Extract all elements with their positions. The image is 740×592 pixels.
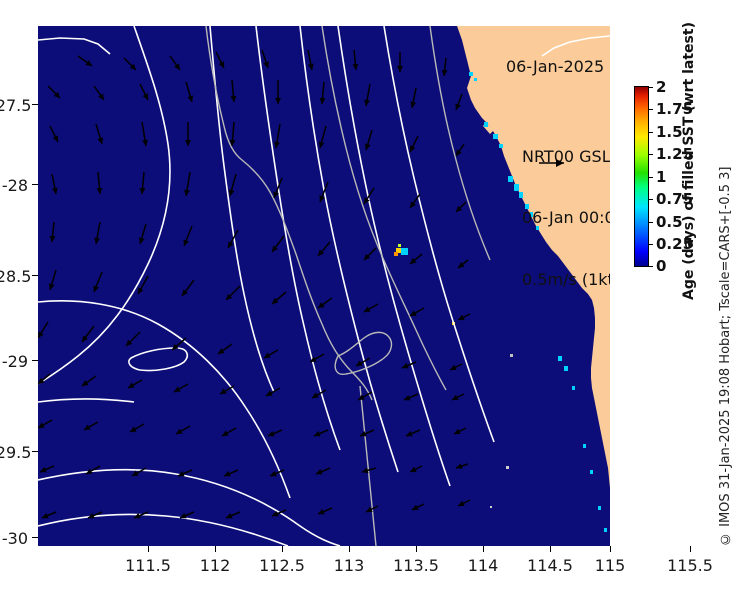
x-tick-label: 115.5	[650, 556, 730, 575]
colorbar-tick-label: 0	[656, 257, 666, 275]
gsl-scale-label: 0.5m/s (1kt 6h)	[522, 270, 610, 290]
y-tick-label: -29	[0, 352, 28, 371]
colorbar-tick-label: 2	[656, 78, 666, 96]
right-arrow-icon	[538, 157, 572, 169]
colorbar-tick	[649, 266, 653, 267]
gsl-time-label: 06-Jan 00:00Z	[522, 208, 610, 228]
y-tick	[32, 275, 38, 276]
colorbar-tick	[649, 222, 653, 223]
colorbar-tick	[649, 244, 653, 245]
x-tick	[148, 546, 149, 552]
x-tick-label: 115	[570, 556, 650, 575]
x-tick	[349, 546, 350, 552]
x-tick	[483, 546, 484, 552]
colorbar-tick	[649, 109, 653, 110]
x-tick	[610, 546, 611, 552]
y-tick	[32, 184, 38, 185]
gsl-info-block: NRT00 GSL 06-Jan 00:00Z 0.5m/s (1kt 6h)	[522, 106, 610, 331]
colorbar-gradient[interactable]	[634, 86, 649, 267]
y-tick-label: -27.5	[0, 96, 28, 115]
x-tick	[550, 546, 551, 552]
colorbar-title: Age (days) of filled SST (wrt latest)	[678, 26, 700, 296]
y-tick	[32, 104, 38, 105]
figure-root: 06-Jan-2025 12Z NRT00 GSL 06-Jan 00:00Z …	[0, 0, 740, 592]
copyright-credit: © IMOS 31-Jan-2025 19:08 Hobart; Tscale=…	[718, 190, 738, 546]
x-tick	[282, 546, 283, 552]
colorbar-tick-label: 1	[656, 168, 666, 186]
x-tick	[215, 546, 216, 552]
y-tick-label: -29.5	[0, 443, 28, 462]
x-tick	[416, 546, 417, 552]
y-tick-label: -28	[0, 176, 28, 195]
y-tick	[32, 537, 38, 538]
colorbar-tick	[649, 177, 653, 178]
x-tick	[690, 546, 691, 552]
colorbar-tick	[649, 199, 653, 200]
y-tick-label: -30	[0, 529, 28, 548]
colorbar-tick	[649, 154, 653, 155]
colorbar-group[interactable]: 2 1.75 1.5 1.25 1 0.75 0.5 0.25 0	[634, 86, 649, 267]
y-tick-label: -28.5	[0, 267, 28, 286]
colorbar-tick	[649, 87, 653, 88]
y-tick	[32, 451, 38, 452]
y-tick	[32, 360, 38, 361]
map-plot-area[interactable]: 06-Jan-2025 12Z NRT00 GSL 06-Jan 00:00Z …	[38, 26, 610, 546]
date-stamp: 06-Jan-2025 12Z	[506, 57, 610, 76]
velocity-arrows	[38, 50, 470, 518]
colorbar-tick	[649, 132, 653, 133]
